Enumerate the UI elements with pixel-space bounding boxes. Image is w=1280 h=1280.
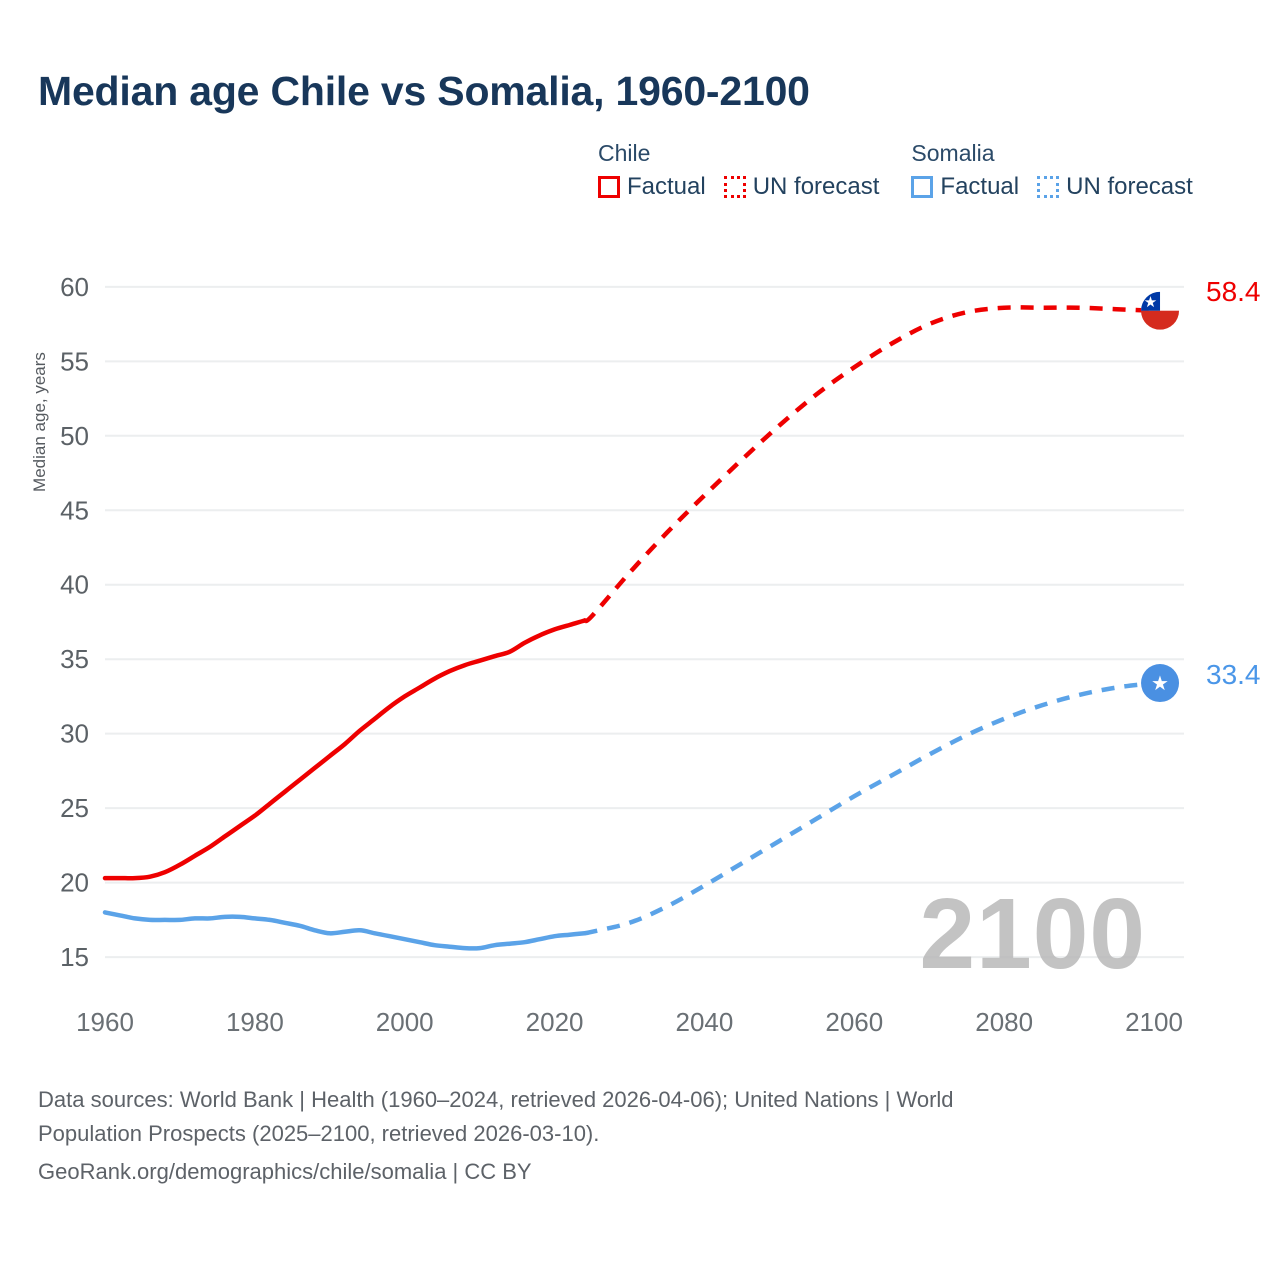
y-tick-label: 55 [60,346,89,376]
chart-footer: Data sources: World Bank | Health (1960–… [38,1083,1198,1189]
x-tick-label: 1980 [226,1007,284,1037]
y-tick-label: 45 [60,495,89,525]
y-tick-label: 50 [60,421,89,451]
y-tick-label: 35 [60,644,89,674]
y-tick-label: 20 [60,868,89,898]
x-tick-label: 2000 [376,1007,434,1037]
series-line-factual-somalia [105,912,585,948]
x-tick-label: 2020 [526,1007,584,1037]
x-tick-label: 1960 [76,1007,134,1037]
chart-page: Median age Chile vs Somalia, 1960-2100 C… [0,0,1280,1280]
y-tick-label: 25 [60,793,89,823]
year-watermark: 2100 [920,884,1146,984]
somalia-flag-icon: ★ [1141,664,1179,702]
svg-text:★: ★ [1151,673,1169,695]
y-tick-label: 60 [60,272,89,302]
end-value-chile: 58.4 [1206,276,1261,308]
x-tick-label: 2100 [1125,1007,1183,1037]
series-line-forecast-chile [585,307,1154,621]
x-tick-label: 2040 [676,1007,734,1037]
y-tick-label: 15 [60,942,89,972]
y-axis-label: Median age, years [30,312,50,532]
y-tick-label: 40 [60,570,89,600]
y-tick-label: 30 [60,719,89,749]
footer-line-1: Data sources: World Bank | Health (1960–… [38,1083,1198,1117]
footer-line-2: Population Prospects (2025–2100, retriev… [38,1117,1198,1151]
x-tick-label: 2080 [975,1007,1033,1037]
footer-line-3[interactable]: GeoRank.org/demographics/chile/somalia |… [38,1155,1198,1189]
end-value-somalia: 33.4 [1206,659,1261,691]
chile-flag-icon: ★ [1141,292,1179,330]
svg-text:★: ★ [1144,294,1157,311]
x-tick-label: 2060 [825,1007,883,1037]
